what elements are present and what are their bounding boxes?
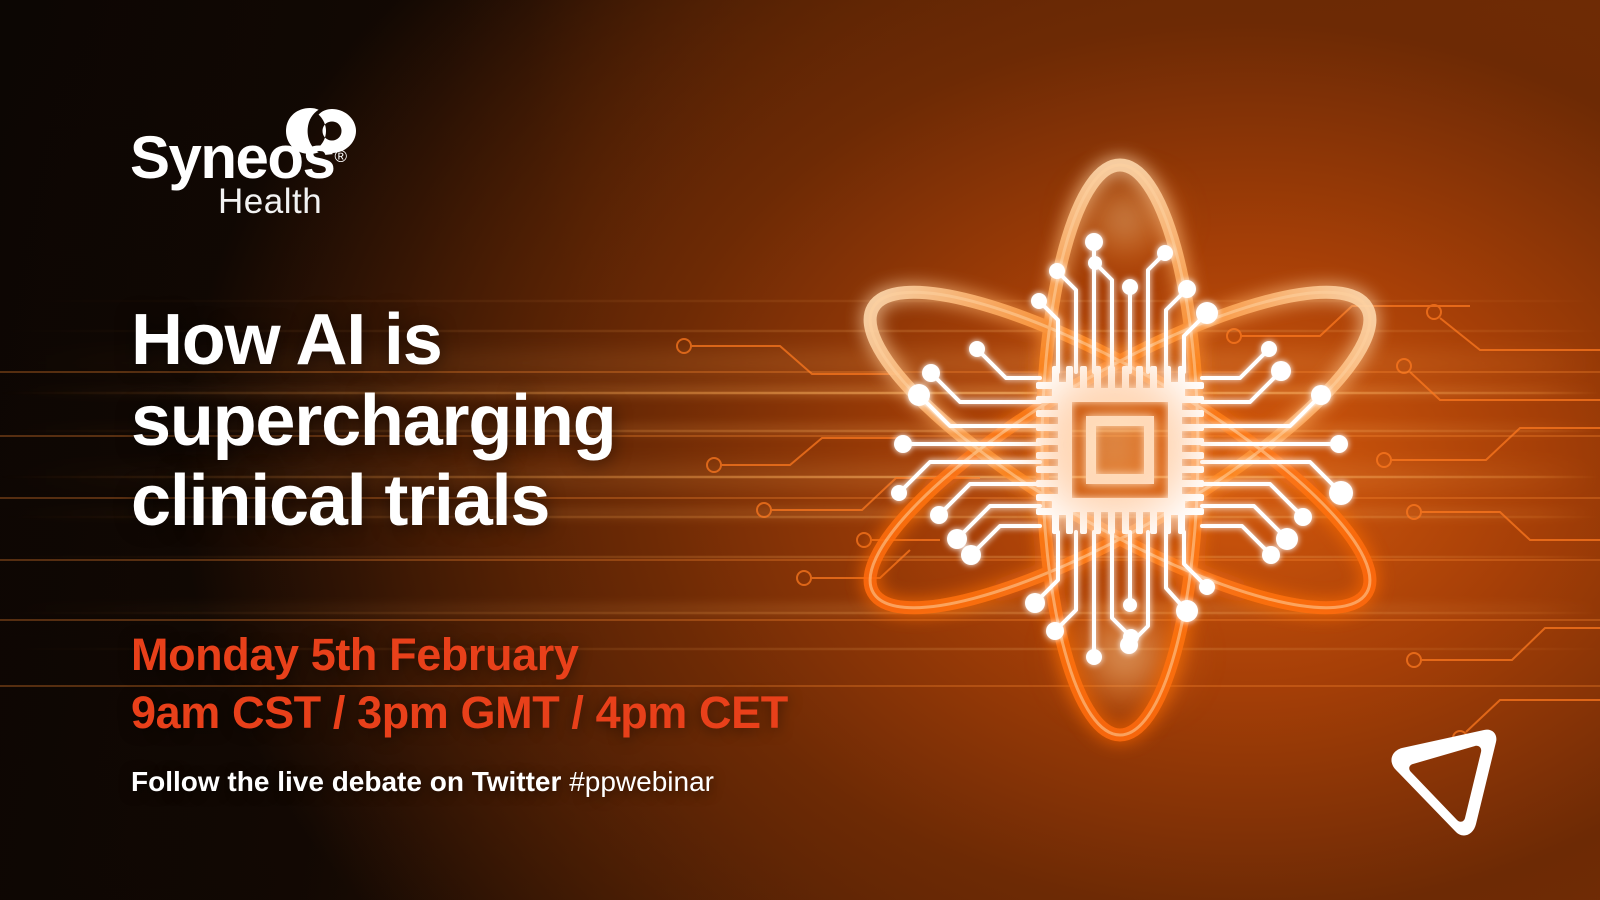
logo-word-text: Syneos xyxy=(130,124,334,191)
headline-line-3: clinical trials xyxy=(131,461,831,542)
schedule-block: Monday 5th February 9am CST / 3pm GMT / … xyxy=(131,626,1031,741)
webinar-times: 9am CST / 3pm GMT / 4pm CET xyxy=(131,684,1031,742)
pharmaphorum-rounded-triangle-mark xyxy=(1372,712,1512,852)
social-prompt-text: Follow the live debate on Twitter xyxy=(131,766,561,797)
webinar-promo-banner: Syneos® Health How AI is supercharging c… xyxy=(0,0,1600,900)
logo-wordmark: Syneos® xyxy=(130,128,347,188)
webinar-date: Monday 5th February xyxy=(131,626,1031,684)
headline-line-2: supercharging xyxy=(131,381,831,462)
social-hashtag: #ppwebinar xyxy=(569,766,714,797)
social-prompt: Follow the live debate on Twitter #ppweb… xyxy=(131,765,714,799)
headline-line-1: How AI is xyxy=(131,300,831,381)
logo-subtitle: Health xyxy=(218,184,322,219)
syneos-health-logo: Syneos® Health xyxy=(130,104,370,214)
registered-trademark-icon: ® xyxy=(334,147,347,166)
page-title: How AI is supercharging clinical trials xyxy=(131,300,831,542)
